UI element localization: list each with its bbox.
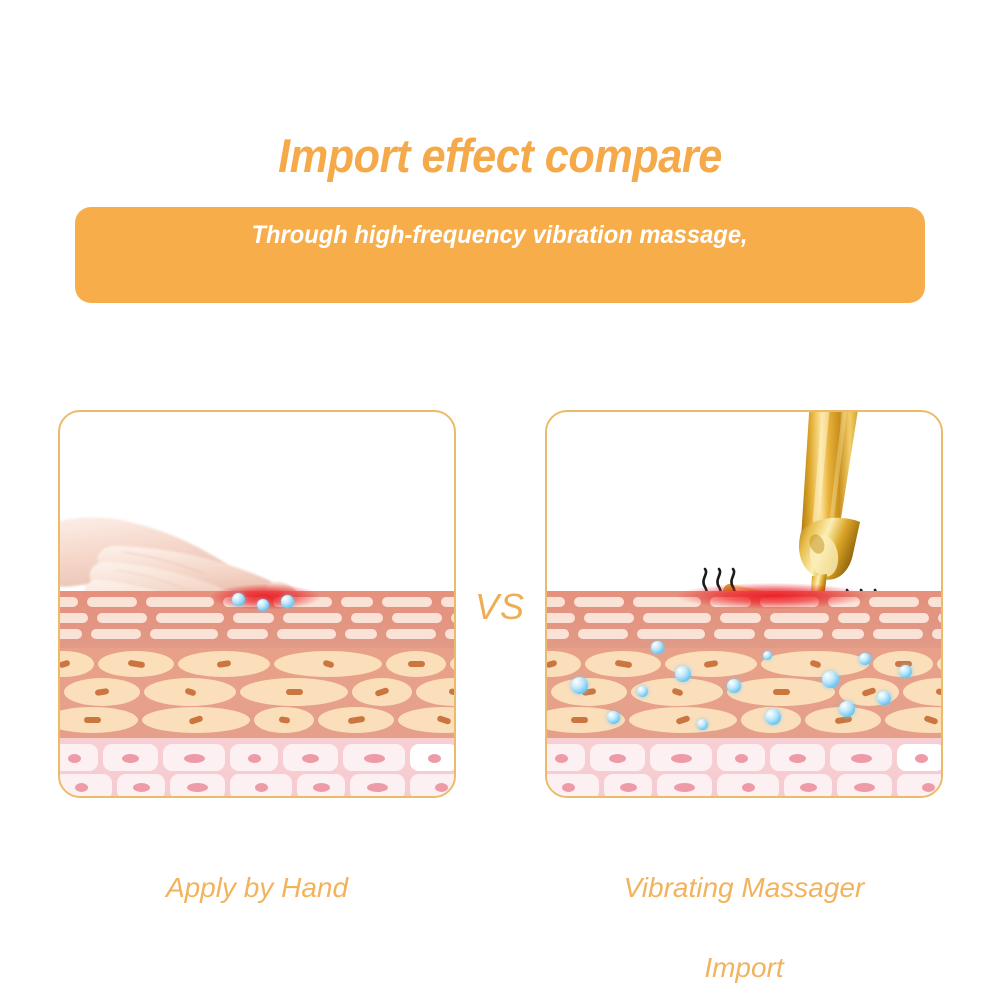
basal-nucleus [562, 783, 575, 792]
basal-nucleus [800, 783, 817, 792]
epidermis-cell [91, 629, 141, 639]
epidermis-cell [637, 629, 705, 639]
essence-droplet [571, 677, 588, 694]
subtitle-line1: Through high-frequency vibration massage… [252, 221, 748, 249]
basal-nucleus [735, 754, 748, 763]
basal-nucleus [255, 783, 268, 792]
basal-nucleus [75, 783, 88, 792]
epidermis-cell [150, 629, 218, 639]
basal-nucleus [742, 783, 755, 792]
dermis-layer [60, 648, 454, 738]
basal-nucleus [851, 754, 872, 763]
basal-nucleus [187, 783, 208, 792]
basal-nucleus [671, 754, 692, 763]
essence-droplet [763, 651, 772, 660]
essence-droplet [839, 701, 855, 717]
essence-droplet [877, 691, 891, 705]
epidermis-cell [58, 629, 82, 639]
basal-nucleus [609, 754, 626, 763]
epidermis-cell [445, 629, 456, 639]
essence-droplet [899, 665, 912, 678]
basal-nucleus [367, 783, 388, 792]
essence-droplet [859, 653, 871, 665]
dermis-nucleus [286, 689, 303, 695]
epidermis-cell [578, 629, 628, 639]
versus-text: VS [475, 586, 525, 628]
basal-nucleus [789, 754, 806, 763]
basal-layer [547, 738, 941, 796]
dermis-cell [450, 651, 456, 677]
epidermis-cell [832, 629, 864, 639]
caption-left: Apply by Hand [58, 828, 456, 908]
essence-droplet [607, 711, 620, 724]
dermis-nucleus [408, 661, 425, 667]
basal-nucleus [248, 754, 261, 763]
caption-right-line2: Import [704, 952, 783, 983]
subtitle-banner: Through high-frequency vibration massage… [75, 207, 925, 303]
basal-nucleus [122, 754, 139, 763]
essence-droplet [765, 709, 781, 725]
versus-label: VS [0, 586, 1000, 628]
caption-right-line1: Vibrating Massager [624, 872, 865, 903]
basal-nucleus [313, 783, 330, 792]
basal-nucleus [555, 754, 568, 763]
basal-nucleus [674, 783, 695, 792]
epidermis-cell [386, 629, 436, 639]
basal-nucleus [854, 783, 875, 792]
basal-nucleus [922, 783, 935, 792]
essence-droplet [651, 641, 664, 654]
basal-nucleus [184, 754, 205, 763]
epidermis-cell [873, 629, 923, 639]
essence-droplet [822, 671, 839, 688]
epidermis-cell [277, 629, 336, 639]
basal-nucleus [620, 783, 637, 792]
dermis-nucleus [571, 717, 588, 723]
promo-page: Import effect compare with hand and 24K … [0, 0, 1000, 1000]
basal-nucleus [68, 754, 81, 763]
dermis-nucleus [773, 689, 790, 695]
subtitle-line2: moisturizing essence reaches the bottom … [173, 301, 828, 329]
essence-droplet [675, 666, 691, 682]
epidermis-cell [227, 629, 268, 639]
dermis-nucleus [84, 717, 101, 723]
basal-nucleus [435, 783, 448, 792]
basal-cell [897, 774, 943, 798]
caption-left-text: Apply by Hand [166, 872, 348, 903]
epidermis-cell [545, 629, 569, 639]
basal-nucleus [133, 783, 150, 792]
dermis-cell [937, 651, 943, 677]
epidermis-cell [932, 629, 943, 639]
basal-nucleus [302, 754, 319, 763]
basal-cell [410, 774, 456, 798]
epidermis-cell [345, 629, 377, 639]
caption-right: Vibrating Massager Import [545, 828, 943, 988]
essence-droplet [637, 686, 648, 697]
epidermis-cell [714, 629, 755, 639]
basal-nucleus [915, 754, 928, 763]
essence-droplet [697, 719, 708, 730]
essence-droplet [727, 679, 741, 693]
basal-nucleus [364, 754, 385, 763]
subtitle-banner-text: Through high-frequency vibration massage… [159, 175, 840, 335]
basal-nucleus [428, 754, 441, 763]
basal-layer [60, 738, 454, 796]
epidermis-cell [764, 629, 823, 639]
